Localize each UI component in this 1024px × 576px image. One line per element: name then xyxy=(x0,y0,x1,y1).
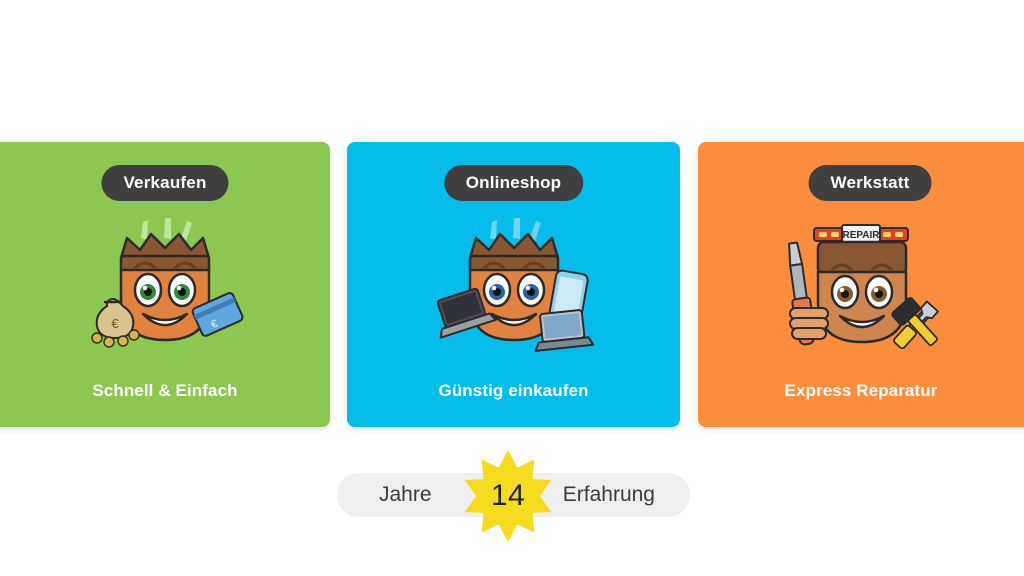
card-badge-verkaufen[interactable]: Verkaufen xyxy=(101,165,228,201)
experience-right-label: Erfahrung xyxy=(563,473,655,517)
nut-mascot-selling-icon: € € xyxy=(0,214,330,364)
card-badge-werkstatt[interactable]: Werkstatt xyxy=(809,165,932,201)
card-caption-werkstatt: Express Reparatur xyxy=(698,381,1024,401)
service-card-onlineshop[interactable]: Onlineshop xyxy=(347,142,680,427)
service-card-verkaufen[interactable]: Verkaufen xyxy=(0,142,330,427)
experience-star-badge: 14 xyxy=(461,449,555,543)
card-badge-onlineshop[interactable]: Onlineshop xyxy=(444,165,584,201)
svg-text:REPAIR: REPAIR xyxy=(842,230,880,241)
experience-years-value: 14 xyxy=(461,449,555,543)
experience-left-label: Jahre xyxy=(379,473,432,517)
page-root: Verkaufen xyxy=(0,0,1024,576)
card-caption-verkaufen: Schnell & Einfach xyxy=(0,381,330,401)
card-caption-onlineshop: Günstig einkaufen xyxy=(347,381,680,401)
nut-mascot-shop-icon xyxy=(347,214,680,364)
service-card-werkstatt[interactable]: Werkstatt REPAIR xyxy=(698,142,1024,427)
svg-text:€: € xyxy=(111,316,119,331)
service-card-row: Verkaufen xyxy=(0,142,1024,430)
nut-mascot-repair-icon: REPAIR xyxy=(698,214,1024,364)
